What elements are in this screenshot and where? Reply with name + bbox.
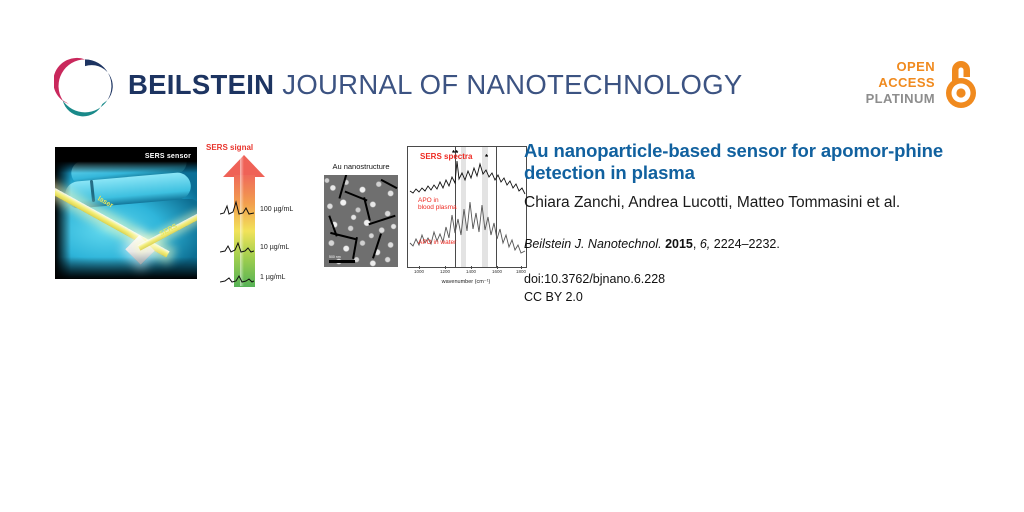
label-sers-signal: SERS signal: [206, 143, 253, 152]
peak-marker-star: *: [485, 153, 488, 162]
sem-micrograph-image: 500 nm: [324, 175, 398, 267]
label-sers-sensor: SERS sensor: [145, 153, 191, 160]
journal-wordmark: BEILSTEIN JOURNAL OF NANOTECHNOLOGY: [128, 71, 743, 101]
spectrum-spike-mid: [220, 238, 254, 254]
x-tick-label: 1400: [466, 269, 476, 274]
article-citation: Beilstein J. Nanotechnol. 2015, 6, 2224–…: [524, 236, 964, 252]
sem-scale-bar: [329, 260, 355, 263]
beilstein-spiral-logo-icon: [54, 55, 116, 117]
concentration-label-1: 1 µg/mL: [260, 274, 285, 281]
open-access-text: OPEN ACCESS PLATINUM: [866, 59, 935, 107]
label-apo-line1: APO in: [418, 197, 457, 204]
citation-journal: Beilstein J. Nanotechnol.: [524, 237, 662, 251]
sem-crack: [352, 237, 358, 259]
sem-crack: [381, 179, 398, 189]
masthead: BEILSTEIN JOURNAL OF NANOTECHNOLOGY OPEN…: [0, 0, 1024, 132]
arrow-head: [223, 155, 265, 177]
photo-vignette-top: [55, 147, 197, 173]
sers-sensor-photo: SERS sensor laser SERS: [55, 147, 197, 279]
article-doi[interactable]: doi:10.3762/bjnano.6.228: [524, 270, 964, 288]
sem-crack: [372, 233, 382, 258]
journal-brand-lockup[interactable]: BEILSTEIN JOURNAL OF NANOTECHNOLOGY: [54, 55, 743, 117]
sem-crack: [338, 175, 347, 199]
article-license[interactable]: CC BY 2.0: [524, 288, 964, 306]
article-metadata: Au nanoparticle-based sensor for apomor-…: [524, 140, 964, 306]
label-sers-spectra: SERS spectra: [420, 152, 472, 161]
spectra-x-axis-title: wavenumber (cm⁻¹): [407, 279, 525, 285]
x-tick-label: 1000: [414, 269, 424, 274]
sem-crack: [368, 215, 395, 226]
open-access-badge[interactable]: OPEN ACCESS PLATINUM: [866, 57, 980, 109]
citation-year: 2015: [665, 237, 693, 251]
label-apo-in-water: APO in water: [418, 239, 456, 246]
label-apo-in-blood-plasma: APO in blood plasma: [418, 197, 457, 212]
concentration-label-10: 10 µg/mL: [260, 244, 289, 251]
wordmark-light: JOURNAL OF NANOTECHNOLOGY: [274, 69, 742, 100]
au-nanostructure-panel: Au nanostructure 500 nm: [322, 162, 400, 274]
spectrum-spike-high: [220, 200, 254, 216]
x-tick-label: 1600: [492, 269, 502, 274]
arrow-highlight: [240, 156, 244, 286]
oa-line-access: ACCESS: [866, 75, 935, 91]
spectra-plot-frame: SERS spectra ** * APO in blood plasma AP…: [407, 146, 527, 268]
x-tick-label: 1200: [440, 269, 450, 274]
oa-line-platinum: PLATINUM: [866, 91, 935, 107]
citation-volume: 6,: [700, 237, 710, 251]
graphical-abstract[interactable]: SERS sensor laser SERS SERS signal 100 µ…: [50, 140, 490, 292]
article-authors: Chiara Zanchi, Andrea Lucotti, Matteo To…: [524, 193, 964, 214]
label-au-nanostructure: Au nanostructure: [322, 162, 400, 171]
wordmark-bold: BEILSTEIN: [128, 69, 274, 100]
label-apo-line2: blood plasma: [418, 204, 457, 211]
sem-scale-bar-label: 500 nm: [329, 255, 341, 259]
concentration-label-100: 100 µg/mL: [260, 206, 293, 213]
oa-line-open: OPEN: [866, 59, 935, 75]
citation-pages: 2224–2232.: [714, 237, 780, 251]
spectra-x-axis: 1000 1200 1400 1600 1800: [407, 266, 525, 280]
spectrum-spike-low: [220, 268, 254, 284]
trace-apo-in-blood-plasma: [410, 161, 525, 194]
sers-signal-arrow-panel: SERS signal 100 µg/mL 10 µg/mL 1 µg/mL: [202, 140, 322, 292]
sem-crack: [330, 232, 356, 240]
sers-spectra-panel: SERS spectra ** * APO in blood plasma AP…: [403, 146, 529, 292]
open-lock-icon: [942, 57, 980, 109]
peak-marker-double-star: **: [452, 149, 458, 158]
citation-comma: ,: [693, 237, 696, 251]
article-title[interactable]: Au nanoparticle-based sensor for apomor-…: [524, 140, 964, 184]
photo-vignette-bottom: [55, 257, 197, 279]
